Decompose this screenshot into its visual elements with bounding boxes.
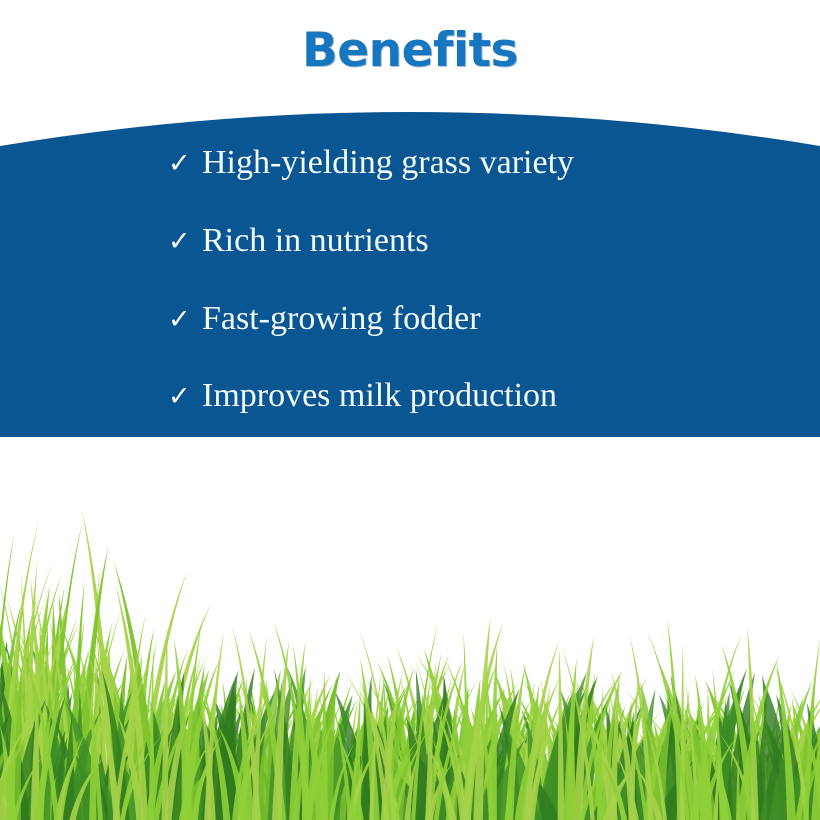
check-icon: ✓ — [168, 306, 202, 333]
list-item: ✓ Fast-growing fodder — [168, 296, 481, 342]
benefit-label: Fast-growing fodder — [202, 302, 481, 336]
benefit-label: Improves milk production — [202, 379, 557, 413]
page-title: Benefits — [302, 27, 518, 74]
check-icon: ✓ — [168, 228, 202, 255]
check-icon: ✓ — [168, 150, 202, 177]
benefit-label: High-yielding grass variety — [202, 146, 574, 180]
list-item: ✓ Rich in nutrients — [168, 218, 429, 264]
list-item: ✓ Improves milk production — [168, 373, 557, 419]
check-icon: ✓ — [168, 383, 202, 410]
page-title-area: Benefits — [0, 0, 820, 100]
benefit-label: Rich in nutrients — [202, 224, 429, 258]
grass-illustration — [0, 440, 820, 820]
poster-canvas: Benefits ✓ High-yielding grass variety ✓… — [0, 0, 820, 820]
list-item: ✓ High-yielding grass variety — [168, 140, 574, 186]
